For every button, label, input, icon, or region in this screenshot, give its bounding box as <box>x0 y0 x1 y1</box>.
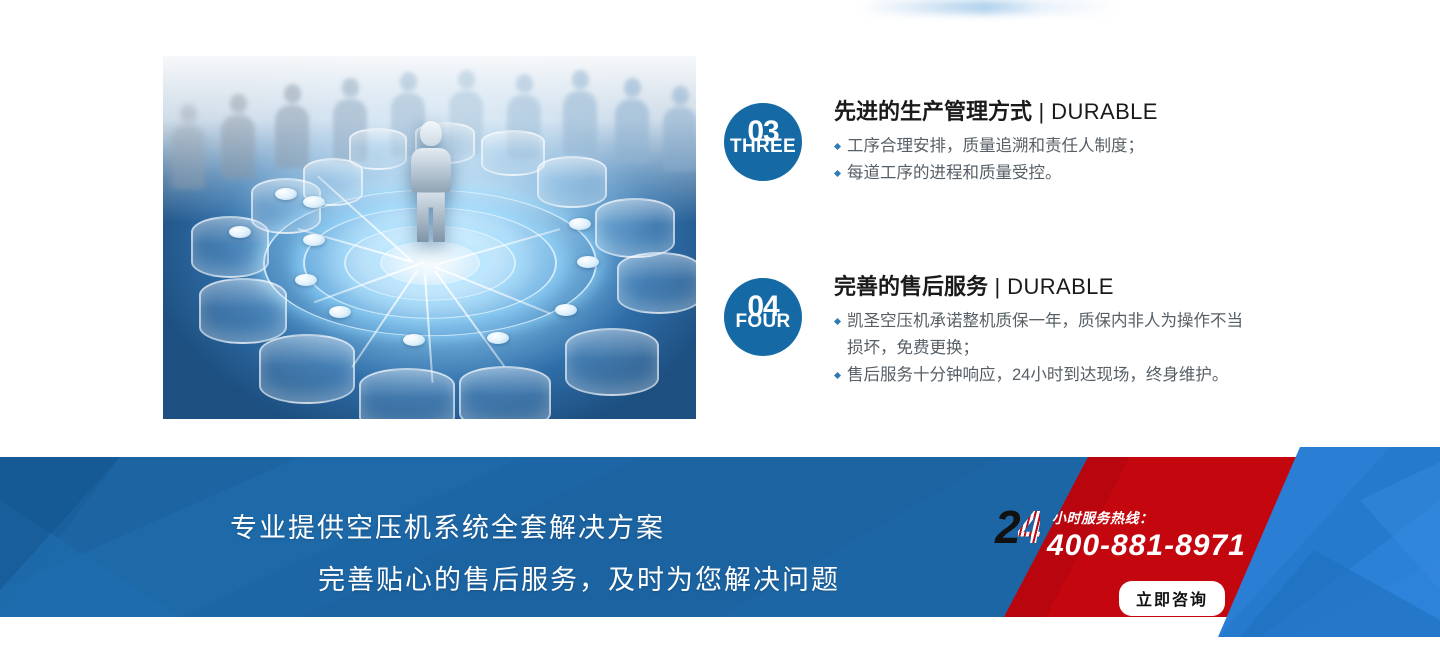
cylinder-shape <box>617 252 696 314</box>
cylinder-shape <box>565 328 659 396</box>
feature-badge-03: 03 THREE <box>724 103 802 181</box>
digit-four: 4 <box>1018 501 1041 553</box>
feature-bullet: 工序合理安排，质量追溯和责任人制度； <box>834 133 1158 160</box>
feature-title-cn: 完善的售后服务 <box>834 274 988 299</box>
feature-title-separator: | <box>1032 99 1051 124</box>
network-node <box>403 334 425 346</box>
cylinder-shape <box>481 130 545 176</box>
banner-headline-1: 专业提供空压机系统全套解决方案 <box>230 506 665 545</box>
network-node <box>295 274 317 286</box>
hotline-label: 小时服务热线： <box>1052 508 1154 528</box>
central-person-figure <box>411 121 451 242</box>
cylinder-shape <box>595 198 675 258</box>
twenty-four-graphic: 24 <box>995 504 1040 550</box>
feature-item-04: 04 FOUR 完善的售后服务 | DURABLE 凯圣空压机承诺整机质保一年，… <box>724 274 1252 388</box>
feature-item-03: 03 THREE 先进的生产管理方式 | DURABLE 工序合理安排，质量追溯… <box>724 99 1158 187</box>
feature-title: 完善的售后服务 | DURABLE <box>834 274 1252 299</box>
feature-title-separator: | <box>988 274 1007 299</box>
network-node <box>303 234 325 246</box>
feature-title-en: DURABLE <box>1007 274 1114 299</box>
network-node <box>555 304 577 316</box>
network-node <box>487 332 509 344</box>
crowd-silhouette <box>275 84 309 169</box>
features-section: 03 THREE 先进的生产管理方式 | DURABLE 工序合理安排，质量追溯… <box>0 0 1440 450</box>
feature-bullet: 售后服务十分钟响应，24小时到达现场，终身维护。 <box>834 362 1252 389</box>
feature-bullet-list: 工序合理安排，质量追溯和责任人制度； 每道工序的进程和质量受控。 <box>834 133 1158 186</box>
crowd-silhouette <box>171 104 205 189</box>
banner-headline-2: 完善贴心的售后服务，及时为您解决问题 <box>318 558 840 597</box>
crowd-silhouette <box>221 94 255 179</box>
hotline-block: 24 小时服务热线： 400-881-8971 立即咨询 <box>995 502 1245 612</box>
crowd-silhouette <box>563 70 597 155</box>
feature-bullet: 凯圣空压机承诺整机质保一年，质保内非人为操作不当损坏，免费更换； <box>834 308 1252 361</box>
network-node <box>569 218 591 230</box>
consult-now-button[interactable]: 立即咨询 <box>1119 581 1225 616</box>
feature-bullet-list: 凯圣空压机承诺整机质保一年，质保内非人为操作不当损坏，免费更换； 售后服务十分钟… <box>834 308 1252 388</box>
cylinder-shape <box>359 368 455 419</box>
cylinder-shape <box>349 128 407 170</box>
feature-text-block: 先进的生产管理方式 | DURABLE 工序合理安排，质量追溯和责任人制度； 每… <box>834 99 1158 187</box>
feature-title-en: DURABLE <box>1051 99 1158 124</box>
cylinder-shape <box>537 156 607 208</box>
cta-banner: 专业提供空压机系统全套解决方案 完善贴心的售后服务，及时为您解决问题 24 小时… <box>0 440 1440 663</box>
network-node <box>275 188 297 200</box>
badge-word: FOUR <box>724 312 802 331</box>
network-node <box>329 306 351 318</box>
feature-title-cn: 先进的生产管理方式 <box>834 99 1032 124</box>
crowd-silhouette <box>615 78 649 163</box>
network-node <box>303 196 325 208</box>
crowd-silhouette <box>663 86 696 171</box>
cylinder-shape <box>199 278 287 344</box>
feature-text-block: 完善的售后服务 | DURABLE 凯圣空压机承诺整机质保一年，质保内非人为操作… <box>834 274 1252 388</box>
network-node <box>229 226 251 238</box>
network-node <box>577 256 599 268</box>
feature-title: 先进的生产管理方式 | DURABLE <box>834 99 1158 124</box>
feature-badge-04: 04 FOUR <box>724 278 802 356</box>
cylinder-shape <box>259 334 355 404</box>
cylinder-shape <box>459 366 551 419</box>
digit-two: 2 <box>995 501 1018 553</box>
badge-word: THREE <box>724 137 802 156</box>
feature-bullet: 每道工序的进程和质量受控。 <box>834 160 1158 187</box>
hotline-number: 400-881-8971 <box>1047 529 1246 563</box>
business-network-concept-image <box>163 56 696 419</box>
